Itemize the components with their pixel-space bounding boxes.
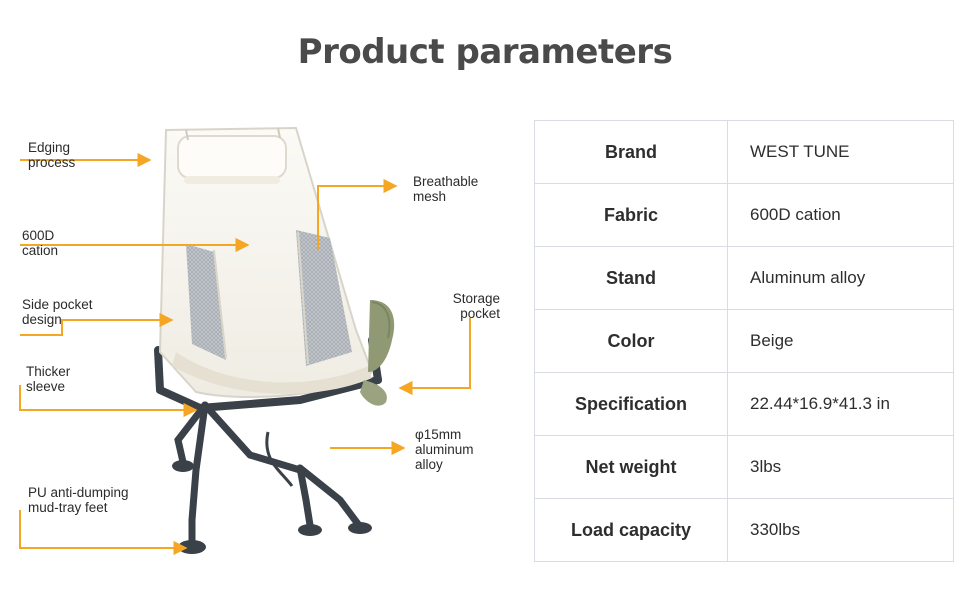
arrow-pu-feet [20, 510, 186, 548]
arrow-breathable-mesh [318, 186, 396, 250]
param-value: Aluminum alloy [728, 247, 954, 310]
param-value: Beige [728, 310, 954, 373]
param-value: 330lbs [728, 499, 954, 562]
table-row: Stand Aluminum alloy [535, 247, 954, 310]
param-key: Stand [535, 247, 728, 310]
param-key: Brand [535, 121, 728, 184]
table-row: Specification 22.44*16.9*41.3 in [535, 373, 954, 436]
table-body: Brand WEST TUNE Fabric 600D cation Stand… [535, 121, 954, 562]
page-title: Product parameters [0, 32, 970, 72]
callout-edging-process: Edging process [28, 140, 75, 170]
callout-pu-anti-dumping-mud-tray-feet: PU anti-dumping mud-tray feet [28, 485, 129, 515]
callout-thicker-sleeve: Thicker sleeve [26, 364, 70, 394]
param-value: 22.44*16.9*41.3 in [728, 373, 954, 436]
param-key: Load capacity [535, 499, 728, 562]
table-row: Net weight 3lbs [535, 436, 954, 499]
param-key: Net weight [535, 436, 728, 499]
chair-graphic [158, 128, 394, 554]
param-key: Color [535, 310, 728, 373]
table-row: Load capacity 330lbs [535, 499, 954, 562]
param-key: Specification [535, 373, 728, 436]
product-parameters-table: Brand WEST TUNE Fabric 600D cation Stand… [534, 120, 954, 562]
callout-side-pocket-design: Side pocket design [22, 297, 93, 327]
callout-600d-cation: 600D cation [22, 228, 58, 258]
product-parameters-page: Product parameters [0, 0, 970, 600]
table-row: Color Beige [535, 310, 954, 373]
callout-breathable-mesh: Breathable mesh [413, 174, 478, 204]
param-value: WEST TUNE [728, 121, 954, 184]
callout-storage-pocket: Storage pocket [434, 291, 500, 321]
callout-aluminum-alloy: φ15mm aluminum alloy [415, 427, 474, 472]
param-value: 3lbs [728, 436, 954, 499]
table-row: Fabric 600D cation [535, 184, 954, 247]
param-key: Fabric [535, 184, 728, 247]
param-value: 600D cation [728, 184, 954, 247]
arrow-storage-pocket [400, 318, 470, 388]
table-row: Brand WEST TUNE [535, 121, 954, 184]
